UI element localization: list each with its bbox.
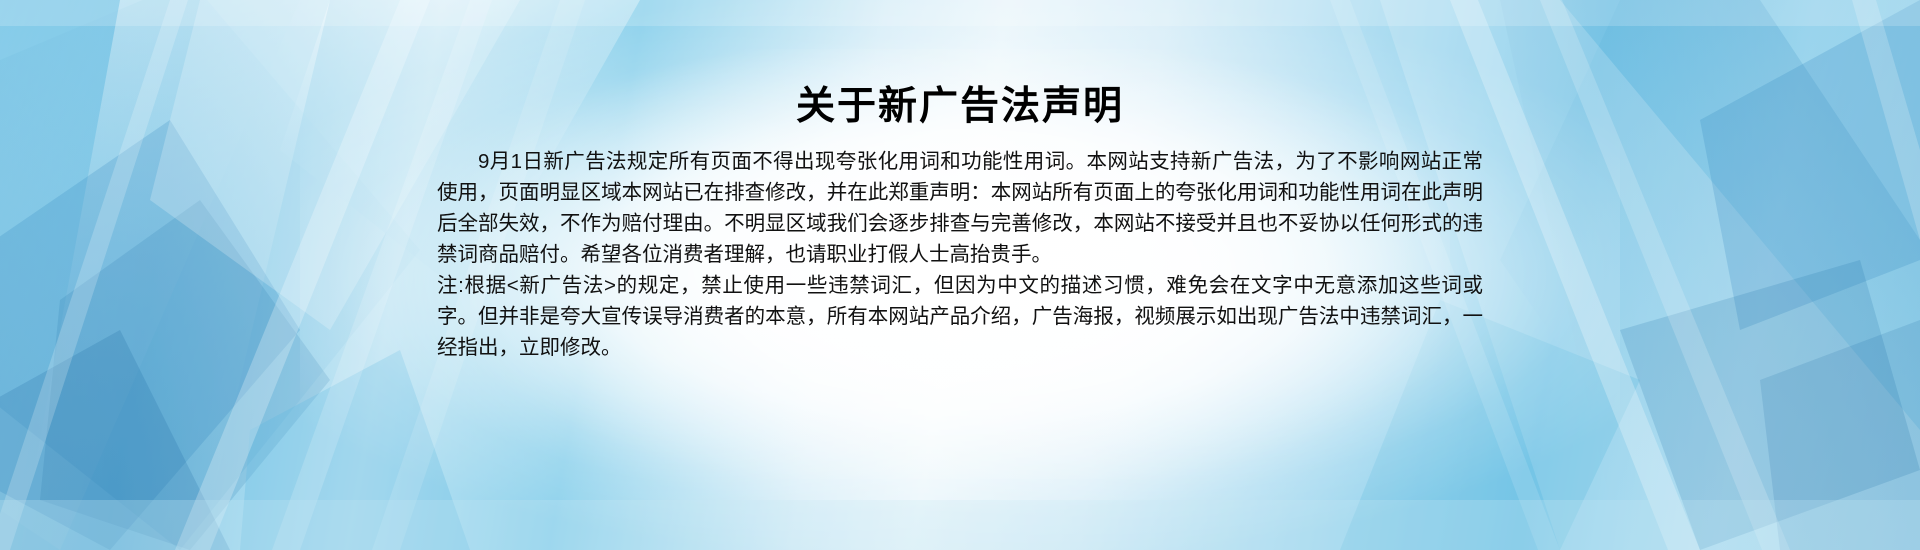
statement-paragraph-note: 注:根据<新广告法>的规定，禁止使用一些违禁词汇，但因为中文的描述习惯，难免会在… <box>437 270 1483 363</box>
statement-content: 关于新广告法声明 9月1日新广告法规定所有页面不得出现夸张化用词和功能性用词。本… <box>460 0 1460 550</box>
statement-paragraph-main: 9月1日新广告法规定所有页面不得出现夸张化用词和功能性用词。本网站支持新广告法，… <box>437 146 1483 270</box>
statement-body: 9月1日新广告法规定所有页面不得出现夸张化用词和功能性用词。本网站支持新广告法，… <box>437 146 1483 363</box>
advertising-law-banner: 关于新广告法声明 9月1日新广告法规定所有页面不得出现夸张化用词和功能性用词。本… <box>0 0 1920 550</box>
page-title: 关于新广告法声明 <box>460 84 1460 131</box>
